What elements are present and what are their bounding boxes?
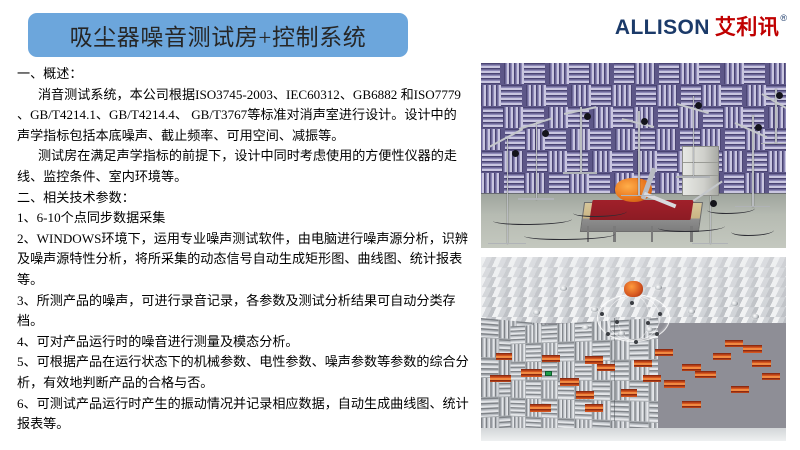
page-title: 吸尘器噪音测试房+控制系统 [70,18,367,52]
spec-item-1: 1、6-10个点同步数据采集 [17,208,469,229]
brand-logo-en: ALLISON [615,17,710,38]
chamber-floor [481,428,786,441]
spec-item-2: 2、WINDOWS环境下，运用专业噪声测试软件，由电脑进行噪声源分析，识辨及噪声… [17,229,469,291]
brand-logo: ALLISON 艾利讯 ® [615,17,787,38]
paragraph-overview: 消音测试系统，本公司根据ISO3745-2003、IEC60312、GB6882… [17,85,469,147]
photo-anechoic-chamber-interior [481,257,786,441]
spec-item-4: 4、可对产品运行时的噪音进行测量及模态分析。 [17,332,469,353]
section-one-heading: 一、概述： [17,64,469,85]
exit-sign-icon [545,371,552,376]
paragraph-test-room: 测试房在满足声学指标的前提下，设计中同时考虑使用的方便性仪器的走线、监控条件、室… [17,146,469,187]
slide-root: 吸尘器噪音测试房+控制系统 ALLISON 艾利讯 ® 一、概述： 消音测试系统… [0,0,800,450]
array-hub [624,281,642,298]
registered-trademark-icon: ® [780,14,787,23]
slide-title-banner: 吸尘器噪音测试房+控制系统 [28,13,408,57]
slide-body-text: 一、概述： 消音测试系统，本公司根据ISO3745-2003、IEC60312、… [17,64,469,435]
section-two-heading: 二、相关技术参数： [17,188,469,209]
brand-logo-cn: 艾利讯 [715,17,780,38]
spec-item-5: 5、可根据产品在运行状态下的机械参数、电性参数、噪声参数等参数的综合分析，有效地… [17,352,469,393]
spec-item-3: 3、所测产品的噪声，可进行录音记录，各参数及测试分析结果可自动分类存档。 [17,291,469,332]
spec-item-6: 6、可测试产品运行时产生的振动情况并记录相应数据，自动生成曲线图、统计报表等。 [17,394,469,435]
photo-anechoic-chamber-vacuum-test [481,63,786,248]
